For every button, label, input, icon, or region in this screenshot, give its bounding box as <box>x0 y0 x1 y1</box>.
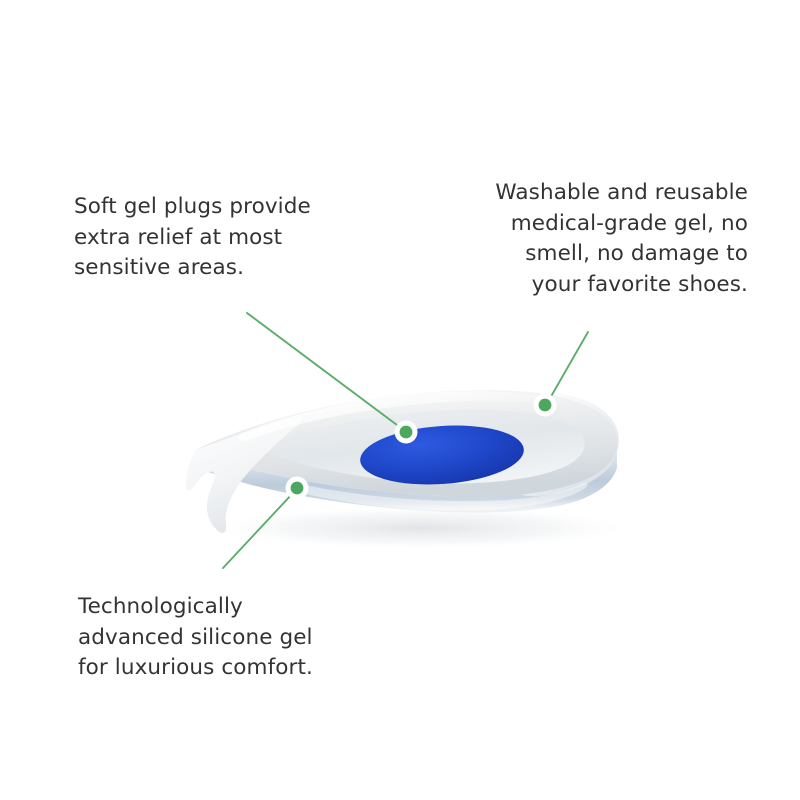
infographic-canvas: Soft gel plugs provide extra relief at m… <box>0 0 800 800</box>
callout-dot-silicone-gel[interactable] <box>286 477 309 500</box>
callout-dot-soft-gel-plugs[interactable] <box>395 421 418 444</box>
leader-line-soft-gel-plugs <box>247 313 401 428</box>
leader-line-washable-reusable <box>549 332 588 400</box>
leader-line-silicone-gel <box>223 493 293 568</box>
callout-overlay <box>0 0 800 800</box>
callout-dot-washable-reusable[interactable] <box>534 394 557 417</box>
